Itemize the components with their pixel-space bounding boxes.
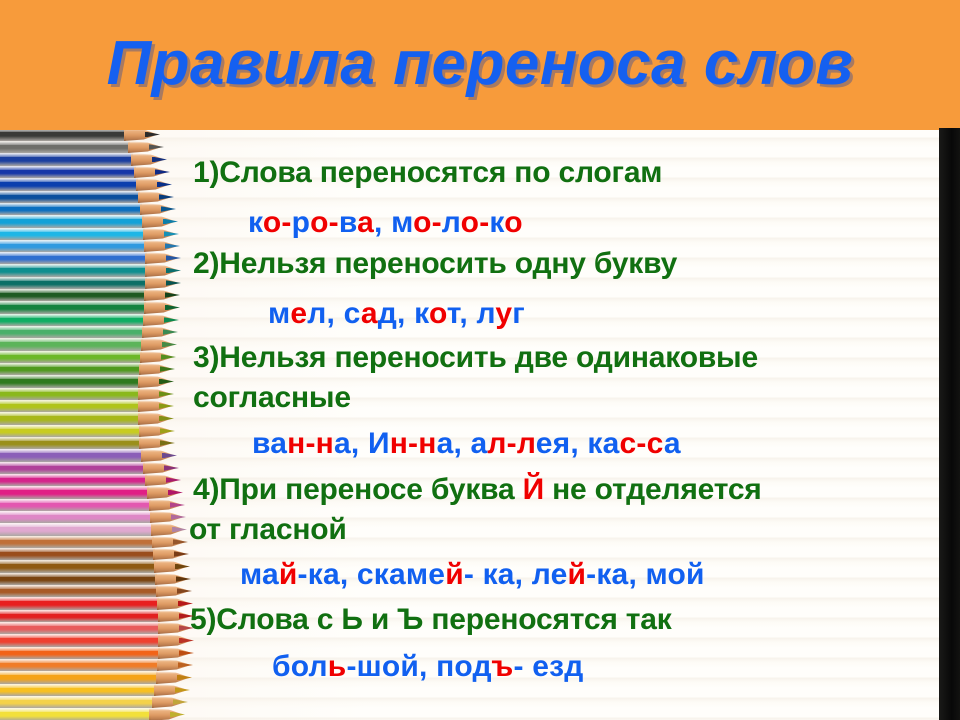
text-run: о (504, 206, 523, 239)
rule-2-number: 2) (193, 247, 219, 280)
pencil-lead-point (164, 465, 179, 471)
text-run: - ка, (464, 558, 523, 591)
text-run (348, 558, 357, 591)
pencil-lead-point (164, 317, 179, 323)
text-run (428, 650, 437, 683)
rule-1-body: Слова переносятся по слогам (219, 156, 662, 189)
pencil-lead-point (161, 354, 176, 360)
pencil-lead-point (159, 391, 174, 397)
pencil-body (0, 338, 143, 351)
pencil (0, 634, 196, 647)
pencil-lead-point (179, 613, 194, 619)
pencil-lead-point (152, 157, 167, 163)
pencil-body (0, 326, 144, 338)
pencil (0, 647, 196, 659)
text-run: -шой, (346, 650, 427, 683)
text-run: - езд (513, 650, 583, 683)
pencil (0, 462, 181, 474)
right-dark-edge (939, 128, 960, 720)
pencil (0, 240, 182, 252)
pencil-body (0, 708, 151, 720)
rule-4-text-line2: от гласной (189, 513, 347, 547)
text-run: г (512, 297, 525, 330)
text-run: о (413, 206, 432, 239)
text-run: ма (240, 558, 279, 591)
rule-4-body-a: При переносе буква (219, 473, 522, 506)
pencil (0, 252, 183, 264)
text-run: с-с (620, 427, 664, 460)
pencil-body (0, 671, 158, 684)
pencil-body (0, 252, 147, 264)
pencil-body (0, 474, 147, 486)
pencil (0, 585, 194, 597)
pencil-body (0, 264, 147, 277)
pencil (0, 264, 183, 277)
pencil-body (0, 573, 157, 585)
pencil (0, 622, 196, 634)
text-run: ле (532, 558, 568, 591)
pencil (0, 499, 187, 511)
pencil (0, 449, 179, 462)
pencil-body (0, 153, 133, 166)
text-run: д, (378, 297, 406, 330)
pencil-lead-point (176, 576, 191, 582)
pencil (0, 289, 182, 301)
pencil-body (0, 375, 140, 388)
pencil-lead-point (179, 650, 194, 656)
pencil (0, 314, 181, 326)
pencil-lead-point (159, 416, 174, 422)
pencil (0, 708, 187, 720)
pencil-body (0, 191, 140, 203)
colored-pencils-decoration (0, 128, 185, 706)
title-banner: Правила переноса слов (0, 0, 960, 130)
pencil-body (0, 449, 143, 462)
text-run (359, 427, 368, 460)
pencil (0, 486, 185, 499)
text-run: т, (447, 297, 468, 330)
pencil-lead-point (164, 231, 179, 237)
text-run: й (445, 558, 464, 591)
text-run: ея, (536, 427, 579, 460)
pencil (0, 684, 192, 696)
pencil-body (0, 437, 141, 449)
text-run: - (432, 206, 442, 239)
text-run: мой (646, 558, 705, 591)
pencil-lead-point (171, 514, 186, 520)
rule-1-text: 1)Слова переносятся по слогам (193, 156, 662, 190)
pencil-lead-point (179, 625, 194, 631)
pencil (0, 351, 178, 363)
text-run: м (268, 297, 290, 330)
pencil-body (0, 277, 147, 289)
pencil-body (0, 178, 138, 191)
pencil-lead-point (165, 243, 180, 249)
text-run: скаме (357, 558, 445, 591)
rule-4-number: 4) (193, 473, 219, 506)
slide-root: Правила переноса слов 1)Слова переносятс… (0, 0, 960, 720)
pencil-lead-point (165, 292, 180, 298)
text-run: л (442, 206, 461, 239)
pencil (0, 277, 183, 289)
pencil-lead-point (160, 366, 175, 372)
text-run: р (292, 206, 311, 239)
pencil-lead-point (160, 440, 175, 446)
text-run: а, (334, 427, 359, 460)
pencil (0, 511, 188, 523)
pencil (0, 141, 166, 153)
text-run: о (461, 206, 480, 239)
text-run: под (436, 650, 491, 683)
rule-2-text: 2)Нельзя переносить одну букву (193, 247, 677, 281)
pencil-lead-point (175, 687, 190, 693)
pencil-lead-point (149, 144, 164, 150)
pencil-body (0, 511, 152, 523)
pencil-body (0, 523, 153, 536)
rule-1-number: 1) (193, 156, 219, 189)
text-run: , (374, 206, 383, 239)
pencil (0, 659, 195, 671)
pencil-body (0, 289, 146, 301)
text-run: й (279, 558, 298, 591)
pencil-lead-point (166, 255, 181, 261)
pencil-body (0, 166, 136, 178)
rule-5-text: 5)Слова с Ь и Ъ переносятся так (190, 603, 672, 637)
pencil (0, 153, 169, 166)
rule-3-body: Нельзя переносить две одинаковые (219, 341, 758, 374)
pencil-body (0, 363, 141, 375)
text-run: к (489, 206, 504, 239)
text-run: а (471, 427, 488, 460)
text-run: с (344, 297, 361, 330)
pencil-lead-point (175, 564, 190, 570)
text-run: о (310, 206, 329, 239)
pencil-body (0, 536, 154, 548)
pencil (0, 536, 190, 548)
pencil (0, 166, 172, 178)
text-run: к (414, 297, 429, 330)
rule-2-examples: мел, сад, кот, луг (268, 297, 525, 331)
pencil-lead-point (157, 182, 172, 188)
pencil-lead-point (173, 539, 188, 545)
pencil-lead-point (170, 502, 185, 508)
text-run: л (476, 297, 495, 330)
text-run: бол (272, 650, 328, 683)
text-run: ка (587, 427, 619, 460)
pencil (0, 363, 177, 375)
rule-1-examples: ко-ро-ва, мо-ло-ко (248, 206, 523, 240)
text-run: е (290, 297, 307, 330)
pencil-body (0, 412, 140, 425)
pencil (0, 696, 190, 708)
pencil-body (0, 425, 141, 437)
text-run: н-н (287, 427, 334, 460)
pencil (0, 597, 195, 610)
pencil-lead-point (163, 329, 178, 335)
pencil-body (0, 203, 142, 215)
pencil-body (0, 215, 144, 228)
pencil (0, 203, 178, 215)
pencil (0, 412, 176, 425)
pencil-lead-point (165, 305, 180, 311)
pencil-lead-point (178, 601, 193, 607)
pencil-lead-point (145, 132, 160, 138)
pencil (0, 215, 180, 228)
pencil-body (0, 486, 149, 499)
text-run: м (391, 206, 413, 239)
text-run: л-л (487, 427, 535, 460)
text-run (335, 297, 344, 330)
text-run (523, 558, 532, 591)
pencil-body (0, 240, 146, 252)
pencil (0, 301, 182, 314)
pencil (0, 474, 183, 486)
pencil-body (0, 684, 156, 696)
page-title: Правила переноса слов (0, 22, 960, 106)
rule-3-text: 3)Нельзя переносить две одинаковые (193, 341, 758, 375)
pencil (0, 375, 176, 388)
pencil-lead-point (163, 219, 178, 225)
text-run: у (495, 297, 512, 330)
pencil-body (0, 548, 155, 560)
text-run: о (429, 297, 447, 330)
rule-2-body: Нельзя переносить одну букву (219, 247, 677, 280)
pencil-lead-point (160, 428, 175, 434)
pencil-lead-point (170, 712, 185, 718)
pencil-lead-point (155, 169, 170, 175)
pencil-body (0, 647, 160, 659)
pencil-lead-point (159, 194, 174, 200)
pencil (0, 400, 176, 412)
rule-5-examples: боль-шой, подъ- езд (272, 650, 583, 684)
pencil-body (0, 634, 160, 647)
pencil-body (0, 141, 130, 153)
pencil-lead-point (174, 551, 189, 557)
rule-5-body: Слова с Ь и Ъ переносятся так (216, 603, 671, 636)
rule-3-number: 3) (193, 341, 219, 374)
pencil-body (0, 351, 142, 363)
pencil (0, 548, 191, 560)
pencil-body (0, 597, 159, 610)
pencil-body (0, 388, 140, 400)
text-run: а (361, 297, 378, 330)
pencil (0, 671, 194, 684)
pencil-lead-point (178, 662, 193, 668)
pencil-body (0, 560, 156, 573)
pencil-body (0, 301, 146, 314)
pencil (0, 523, 189, 536)
pencil-body (0, 659, 159, 671)
pencil-body (0, 462, 145, 474)
rule-4-highlight-letter: Й (523, 473, 544, 506)
text-run (383, 206, 392, 239)
rule-4-examples: май-ка, скамей- ка, лей-ка, мой (240, 558, 705, 592)
text-run: в (339, 206, 357, 239)
pencil-body (0, 314, 145, 326)
text-run: - (329, 206, 339, 239)
pencil (0, 326, 180, 338)
text-run: -ка, (586, 558, 637, 591)
pencil (0, 388, 176, 400)
pencil (0, 437, 177, 449)
pencil-lead-point (168, 490, 183, 496)
pencil (0, 178, 174, 191)
pencil-lead-point (166, 268, 181, 274)
pencil-lead-point (162, 342, 177, 348)
pencil-lead-point (177, 588, 192, 594)
pencil-lead-point (172, 527, 187, 533)
pencil (0, 425, 177, 437)
pencil-lead-point (179, 638, 194, 644)
pencil (0, 191, 176, 203)
rule-3-examples: ван-на, Ин-на, ал-лея, кас-са (252, 427, 681, 461)
text-run (406, 297, 415, 330)
text-run: й (568, 558, 587, 591)
text-run: -ка, (298, 558, 349, 591)
text-run: а (357, 206, 374, 239)
pencil-body (0, 400, 140, 412)
text-run: - (281, 206, 291, 239)
pencil-lead-point (177, 675, 192, 681)
pencil-lead-point (159, 403, 174, 409)
pencil (0, 610, 196, 622)
pencil-lead-point (161, 206, 176, 212)
rule-3-text-line2: согласные (193, 381, 351, 415)
text-run: к (248, 206, 263, 239)
text-run (462, 427, 471, 460)
rule-4-text: 4)При переносе буква Й не отделяется (193, 473, 762, 507)
pencil-lead-point (166, 477, 181, 483)
pencil-body (0, 610, 160, 622)
pencil-lead-point (159, 379, 174, 385)
pencil-body (0, 228, 145, 240)
pencil-body (0, 499, 151, 511)
rule-4-body-b: не отделяется (544, 473, 762, 506)
text-run: н-н (390, 427, 437, 460)
text-run: И (368, 427, 390, 460)
text-run: а, (437, 427, 462, 460)
text-run (637, 558, 646, 591)
pencil (0, 338, 179, 351)
pencil-lead-point (162, 453, 177, 459)
pencil (0, 560, 192, 573)
text-run: ва (252, 427, 287, 460)
pencil-lead-point (166, 280, 181, 286)
pencil-body (0, 585, 158, 597)
pencil (0, 228, 181, 240)
pencil (0, 573, 193, 585)
text-run: ъ (491, 650, 513, 683)
text-run: - (479, 206, 489, 239)
text-run: л, (307, 297, 335, 330)
text-run: а (664, 427, 681, 460)
pencil-lead-point (173, 699, 188, 705)
text-run: ь (328, 650, 347, 683)
pencil-body (0, 696, 154, 708)
text-run: о (263, 206, 282, 239)
pencil-body (0, 622, 160, 634)
